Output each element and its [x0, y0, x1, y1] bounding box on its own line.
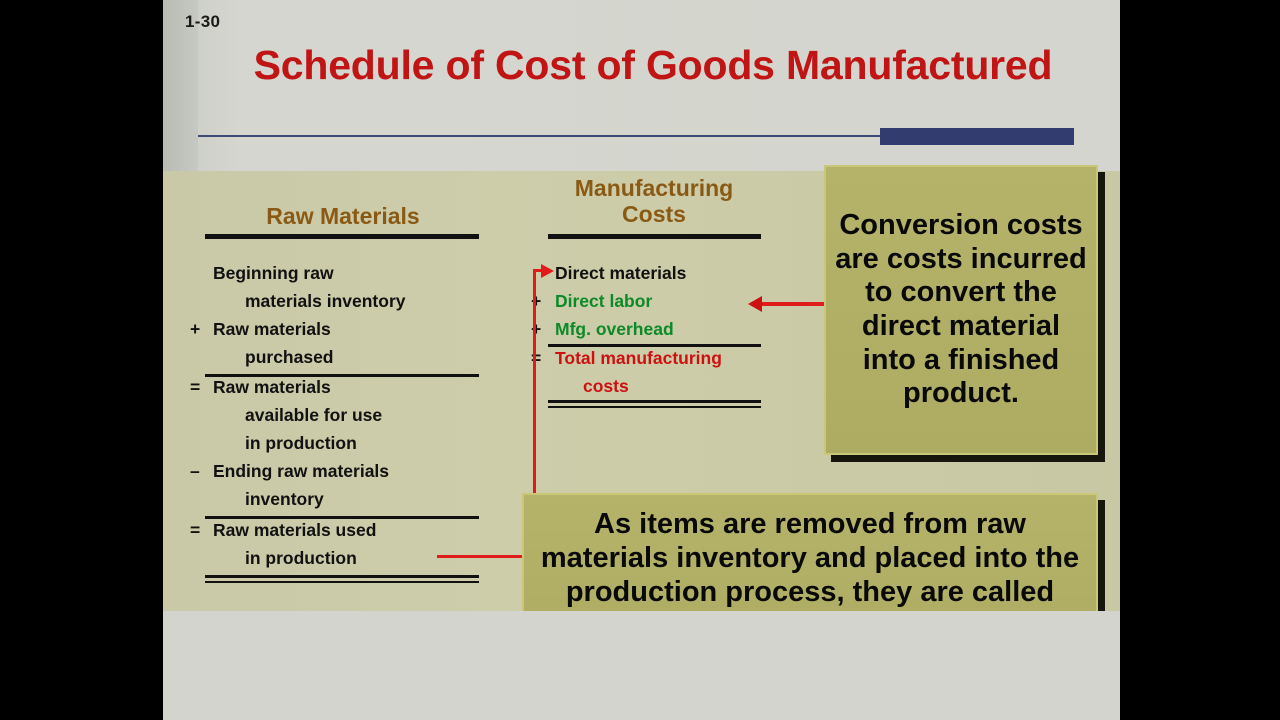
operator: + [190, 319, 200, 340]
total-rule-top [548, 400, 761, 403]
manufacturing-costs-heading-rule [548, 234, 761, 239]
arrow-right-icon [541, 264, 554, 278]
header-accent-block [880, 128, 1074, 145]
conversion-arrow-line [761, 302, 831, 306]
raw-materials-heading-rule [205, 234, 479, 239]
operator: = [190, 520, 200, 541]
list-item: Beginning raw [213, 263, 334, 284]
subtotal-rule [205, 516, 479, 519]
slide-number: 1-30 [185, 12, 220, 32]
manufacturing-costs-heading-line2: Costs [547, 202, 761, 228]
list-item: Direct labor [555, 291, 652, 312]
list-item: in production [245, 548, 357, 569]
list-item: materials inventory [245, 291, 405, 312]
page-title: Schedule of Cost of Goods Manufactured [198, 42, 1108, 89]
manufacturing-costs-heading: Manufacturing Costs [547, 176, 761, 228]
list-item: Mfg. overhead [555, 319, 674, 340]
list-item: Raw materials [213, 377, 331, 398]
operator: = [190, 377, 200, 398]
manufacturing-costs-heading-line1: Manufacturing [547, 176, 761, 202]
list-item: available for use [245, 405, 382, 426]
list-item: Total manufacturing [555, 348, 722, 369]
list-item: Ending raw materials [213, 461, 389, 482]
total-rule-top [205, 575, 479, 578]
callout-conversion-costs: Conversion costs are costs incurred to c… [824, 165, 1098, 455]
list-item: costs [583, 376, 629, 397]
list-item: purchased [245, 347, 334, 368]
arrow-left-icon [748, 296, 762, 312]
list-item: inventory [245, 489, 324, 510]
raw-materials-heading: Raw Materials [205, 204, 481, 230]
list-item: Raw materials [213, 319, 331, 340]
list-item: in production [245, 433, 357, 454]
operator: – [190, 461, 200, 482]
content-panel: Raw Materials Beginning raw materials in… [163, 171, 1120, 611]
total-rule-bottom [548, 406, 761, 408]
list-item: Raw materials used [213, 520, 376, 541]
slide: 1-30 Schedule of Cost of Goods Manufactu… [163, 0, 1120, 720]
list-item: Direct materials [555, 263, 686, 284]
slide-footer [163, 611, 1120, 720]
slide-header: 1-30 Schedule of Cost of Goods Manufactu… [163, 0, 1120, 171]
total-rule-bottom [205, 581, 479, 583]
subtotal-rule [548, 344, 761, 347]
